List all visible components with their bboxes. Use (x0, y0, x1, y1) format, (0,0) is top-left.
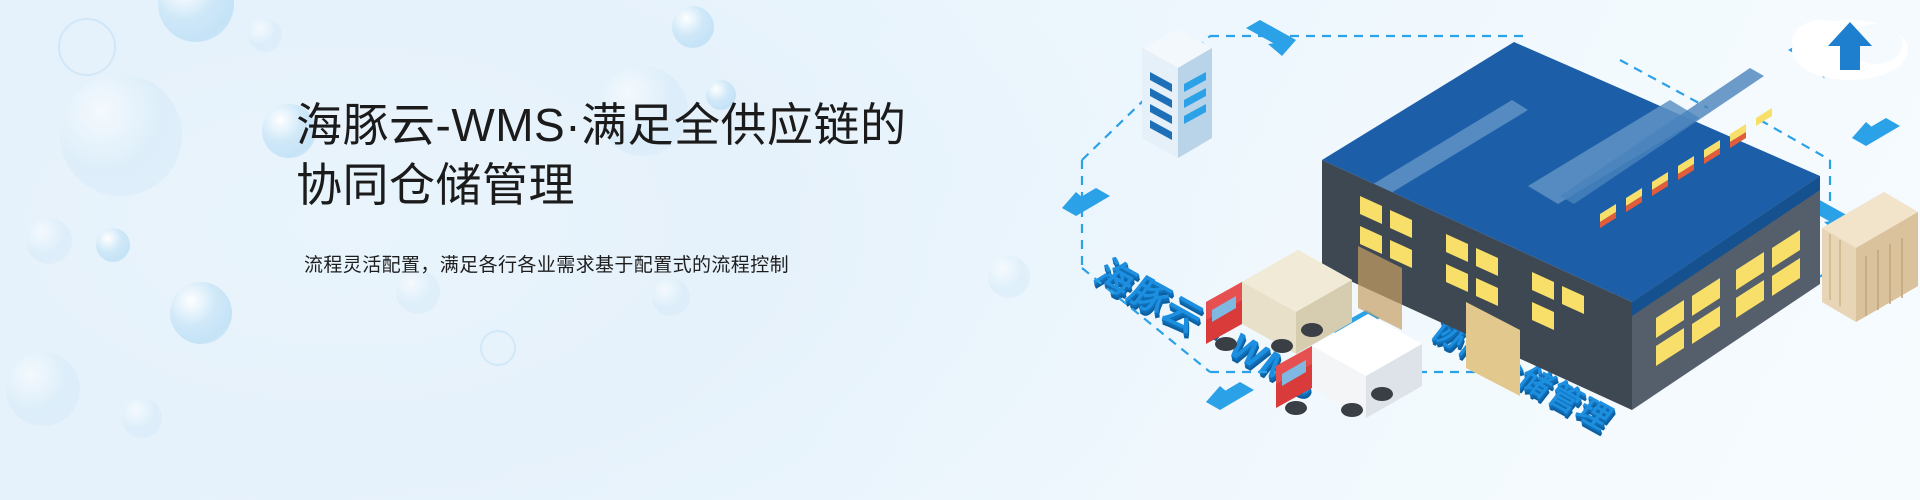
bubble-decoration (248, 18, 282, 52)
server-rack (1142, 28, 1212, 158)
bubble-decoration (480, 330, 516, 366)
bubble-decoration (652, 278, 690, 316)
bubble-decoration (158, 0, 234, 42)
hero-banner: 海豚云-WMS·满足全供应链的 协同仓储管理 流程灵活配置，满足各行各业需求基于… (0, 0, 1920, 500)
cloud-upload (1792, 20, 1908, 80)
bubble-decoration (96, 228, 130, 262)
page-title: 海豚云-WMS·满足全供应链的 协同仓储管理 (296, 96, 1076, 216)
warehouse-illustration (1060, 0, 1920, 500)
bubble-decoration (58, 18, 116, 76)
hero-copy: 海豚云-WMS·满足全供应链的 协同仓储管理 流程灵活配置，满足各行各业需求基于… (296, 96, 1076, 280)
hero-subtitle: 流程灵活配置，满足各行各业需求基于配置式的流程控制 (304, 252, 1076, 281)
bubble-decoration (6, 352, 80, 426)
bubble-decoration (60, 74, 182, 196)
bubble-decoration (672, 6, 714, 48)
bubble-decoration (26, 218, 72, 264)
bubble-decoration (170, 282, 232, 344)
bubble-decoration (122, 398, 162, 438)
